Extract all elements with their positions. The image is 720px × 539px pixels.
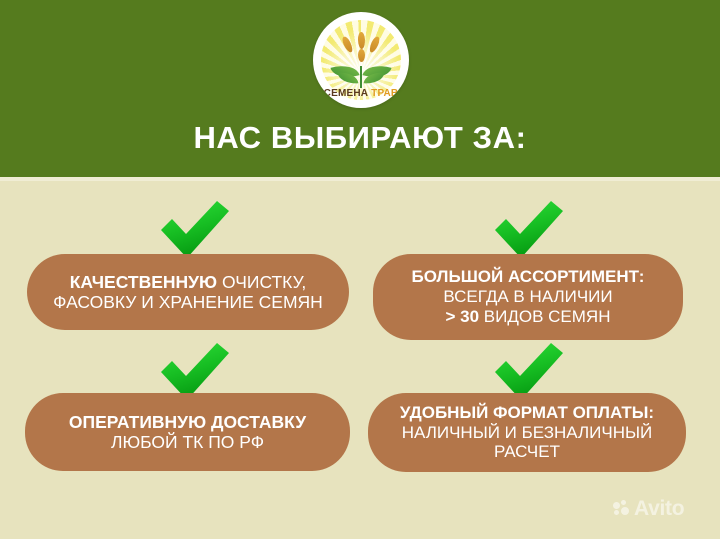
avito-dots-icon bbox=[613, 500, 630, 517]
card-line-regular: ВИДОВ СЕМЯН bbox=[484, 307, 611, 326]
logo-wordmark: СЕМЕНА ТРАВ bbox=[313, 89, 409, 99]
card-line: ВСЕГДА В НАЛИЧИИ bbox=[412, 287, 645, 307]
card-line-bold: ОПЕРАТИВНУЮ ДОСТАВКУ bbox=[69, 412, 306, 432]
card-line: ОПЕРАТИВНУЮ ДОСТАВКУ bbox=[69, 412, 306, 432]
wheat-grain-icon bbox=[358, 49, 365, 62]
page-title: НАС ВЫБИРАЮТ ЗА: bbox=[0, 122, 720, 153]
card-line-regular: ФАСОВКУ И ХРАНЕНИЕ СЕМЯН bbox=[53, 292, 323, 312]
checkmark-icon bbox=[492, 199, 566, 261]
header-underline bbox=[0, 177, 720, 181]
card-line: БОЛЬШОЙ АССОРТИМЕНТ: bbox=[412, 267, 645, 287]
avito-wordmark: Avito bbox=[634, 498, 684, 519]
card-line-regular: РАСЧЕТ bbox=[494, 442, 560, 461]
card-line-bold: > 30 bbox=[446, 307, 484, 326]
card-line-bold: КАЧЕСТВЕННУЮ bbox=[70, 272, 222, 292]
avito-watermark: Avito bbox=[613, 498, 684, 519]
card-line: КАЧЕСТВЕННУЮ ОЧИСТКУ, bbox=[53, 272, 323, 292]
wheat-grain-icon bbox=[368, 35, 381, 53]
checkmark-icon bbox=[158, 199, 232, 261]
card-line-regular: ВСЕГДА В НАЛИЧИИ bbox=[443, 287, 612, 306]
card-line-bold: БОЛЬШОЙ АССОРТИМЕНТ: bbox=[412, 267, 645, 286]
card-line: ФАСОВКУ И ХРАНЕНИЕ СЕМЯН bbox=[53, 292, 323, 312]
logo-word-semena: СЕМЕНА bbox=[324, 88, 369, 99]
wheat-grain-icon bbox=[341, 35, 355, 53]
semena-trav-logo: СЕМЕНА ТРАВ bbox=[313, 12, 409, 108]
card-line: РАСЧЕТ bbox=[400, 442, 654, 462]
plant-stem-icon bbox=[360, 66, 362, 88]
promo-banner: СЕМЕНА ТРАВ НАС ВЫБИРАЮТ ЗА: bbox=[0, 0, 720, 539]
card-line: НАЛИЧНЫЙ И БЕЗНАЛИЧНЫЙ bbox=[400, 423, 654, 443]
benefit-card-quality: КАЧЕСТВЕННУЮ ОЧИСТКУ, ФАСОВКУ И ХРАНЕНИЕ… bbox=[27, 254, 349, 330]
card-line-regular: ЛЮБОЙ ТК ПО РФ bbox=[111, 432, 264, 452]
card-line-regular: НАЛИЧНЫЙ И БЕЗНАЛИЧНЫЙ bbox=[402, 423, 653, 442]
logo-word-trav: ТРАВ bbox=[368, 88, 398, 99]
benefit-card-payment: УДОБНЫЙ ФОРМАТ ОПЛАТЫ: НАЛИЧНЫЙ И БЕЗНАЛ… bbox=[368, 393, 686, 472]
card-line: ЛЮБОЙ ТК ПО РФ bbox=[69, 432, 306, 452]
card-line: > 30 ВИДОВ СЕМЯН bbox=[412, 307, 645, 327]
wheat-grain-icon bbox=[358, 32, 366, 49]
benefit-card-delivery: ОПЕРАТИВНУЮ ДОСТАВКУ ЛЮБОЙ ТК ПО РФ bbox=[25, 393, 350, 471]
card-line-regular: ОЧИСТКУ, bbox=[222, 272, 306, 292]
card-line-bold: УДОБНЫЙ ФОРМАТ ОПЛАТЫ: bbox=[400, 403, 654, 422]
benefit-card-assortment: БОЛЬШОЙ АССОРТИМЕНТ: ВСЕГДА В НАЛИЧИИ > … bbox=[373, 254, 683, 340]
card-line: УДОБНЫЙ ФОРМАТ ОПЛАТЫ: bbox=[400, 403, 654, 423]
